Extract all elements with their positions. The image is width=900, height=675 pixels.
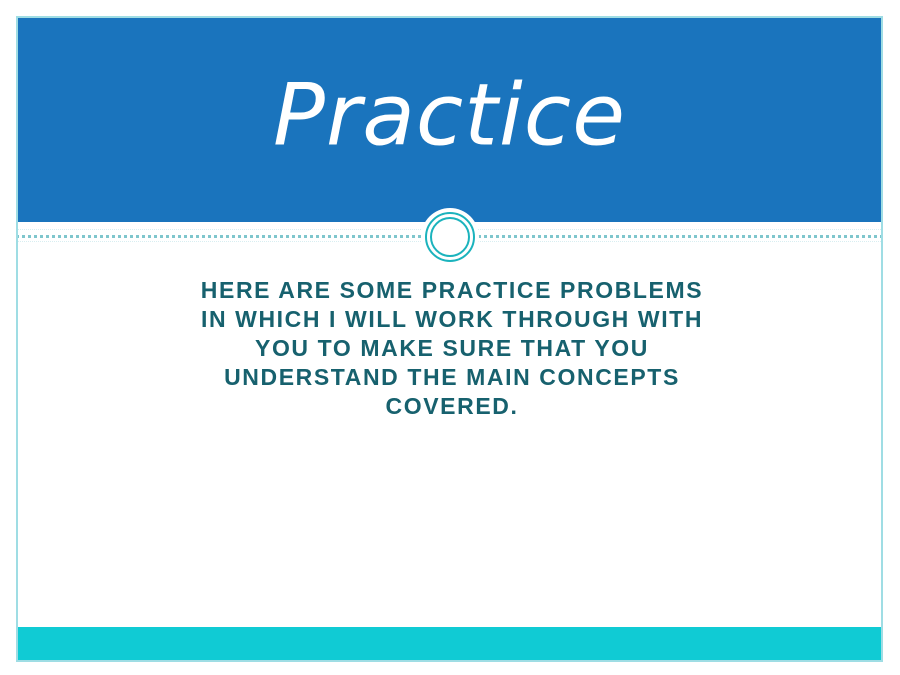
body-text-line: YOU TO MAKE SURE THAT YOU [150, 334, 754, 363]
body-text-line: HERE ARE SOME PRACTICE PROBLEMS [150, 276, 754, 305]
bottom-accent-bar [16, 627, 883, 662]
title-banner: Practice [16, 16, 883, 222]
circle-medallion-icon [425, 212, 475, 262]
slide-title: Practice [16, 73, 883, 159]
presentation-slide: Practice HERE ARE SOME PRACTICE PROBLEMS… [0, 0, 900, 675]
slide-body-text: HERE ARE SOME PRACTICE PROBLEMS IN WHICH… [150, 276, 754, 421]
medallion-inner-ring [430, 217, 470, 257]
body-text-line: UNDERSTAND THE MAIN CONCEPTS [150, 363, 754, 392]
divider-section [16, 228, 883, 246]
body-text-line: COVERED. [150, 392, 754, 421]
body-text-line: IN WHICH I WILL WORK THROUGH WITH [150, 305, 754, 334]
